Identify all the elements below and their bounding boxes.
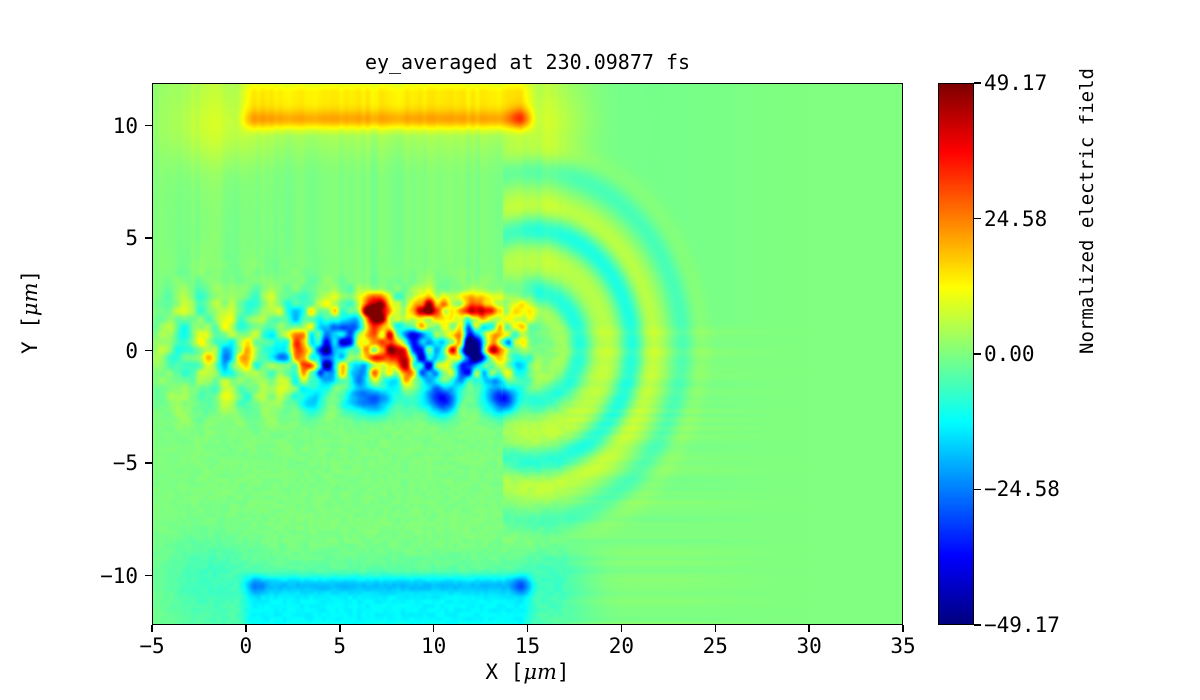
x-tick-mark [339,625,341,632]
colorbar [938,83,974,625]
x-tick-label: 25 [703,634,728,658]
y-tick-label: −10 [100,564,138,588]
x-tick-label: −5 [139,634,164,658]
x-tick-label: 20 [609,634,634,658]
plot-title: ey_averaged at 230.09877 fs [152,50,903,74]
y-tick-label: −5 [113,451,138,475]
colorbar-tick-mark [974,489,981,491]
y-tick-mark [145,125,152,127]
x-tick-mark [902,625,904,632]
colorbar-tick-mark [974,353,981,355]
colorbar-tick-label: −24.58 [984,477,1060,501]
y-tick-mark [145,575,152,577]
field-heatmap [153,84,902,624]
x-tick-label: 10 [421,634,446,658]
x-tick-label: 35 [890,634,915,658]
y-tick-mark [145,237,152,239]
x-tick-label: 30 [796,634,821,658]
x-tick-label: 5 [333,634,346,658]
x-tick-mark [715,625,717,632]
x-tick-mark [527,625,529,632]
x-tick-label: 0 [240,634,253,658]
y-tick-mark [145,350,152,352]
colorbar-tick-mark [974,82,981,84]
x-tick-mark [433,625,435,632]
colorbar-label: Normalized electric field [1076,68,1098,354]
colorbar-tick-label: −49.17 [984,613,1060,637]
colorbar-tick-mark [974,624,981,626]
y-tick-label: 0 [125,339,138,363]
x-tick-mark [151,625,153,632]
x-tick-label: 15 [515,634,540,658]
x-tick-mark [245,625,247,632]
colorbar-tick-label: 0.00 [984,342,1035,366]
figure-canvas: ey_averaged at 230.09877 fs −50510152025… [0,0,1200,700]
y-tick-label: 10 [113,114,138,138]
heatmap-axes [152,83,903,625]
y-tick-label: 5 [125,226,138,250]
colorbar-tick-label: 24.58 [984,207,1047,231]
y-tick-mark [145,462,152,464]
x-tick-mark [808,625,810,632]
x-tick-mark [621,625,623,632]
colorbar-tick-label: 49.17 [984,71,1047,95]
y-axis-label: Y [μm] [18,270,42,354]
colorbar-gradient [939,84,973,624]
x-axis-label: X [μm] [152,660,903,684]
colorbar-tick-mark [974,218,981,220]
